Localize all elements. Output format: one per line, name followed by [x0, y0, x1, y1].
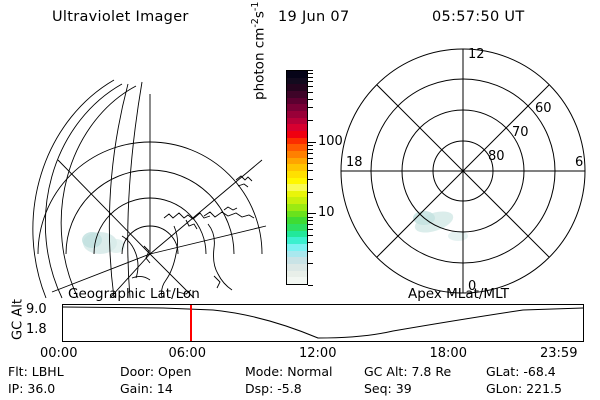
colorbar-tick-minor — [308, 92, 313, 93]
mlt-label-12: 12 — [468, 47, 485, 62]
time-tick-label: 00:00 — [40, 346, 77, 361]
colorbar-tick-minor — [308, 192, 313, 193]
colorbar-tick-minor — [308, 120, 313, 121]
geographic-image-panel — [18, 40, 266, 298]
colorbar-tick-minor — [308, 99, 313, 100]
colorbar-segment — [287, 211, 307, 218]
status-field: IP: 36.0 — [8, 381, 55, 396]
colorbar-segment — [287, 164, 307, 171]
colorbar-segment — [287, 191, 307, 198]
colorbar-segment — [287, 91, 307, 98]
colorbar-tick-minor — [308, 149, 313, 150]
colorbar-segment — [287, 98, 307, 105]
colorbar-label-main: photon cm — [252, 28, 268, 100]
instrument-title: Ultraviolet Imager — [52, 9, 189, 25]
geographic-grid — [33, 80, 266, 298]
colorbar-tick-minor — [308, 263, 313, 264]
colorbar-segment — [287, 124, 307, 131]
colorbar-segment — [287, 131, 307, 138]
colorbar-segment — [287, 257, 307, 264]
coastline-outlines — [122, 176, 254, 298]
status-row-2: IP: 36.0Gain: 14Dsp: -5.8Seq: 39GLon: 22… — [0, 381, 600, 398]
altitude-axis-label: GC Alt — [11, 290, 26, 350]
observation-date: 19 Jun 07 — [278, 9, 349, 25]
colorbar-gradient — [286, 70, 308, 285]
colorbar-segment — [287, 271, 307, 278]
colorbar-tick-minor — [308, 251, 313, 252]
aurora-emission-apex — [412, 207, 468, 241]
colorbar-tick-minor — [308, 81, 313, 82]
header-bar: Ultraviolet Imager 19 Jun 07 05:57:50 UT — [0, 6, 600, 32]
colorbar-segment — [287, 138, 307, 145]
colorbar-segment — [287, 111, 307, 118]
colorbar-tick-minor — [308, 242, 313, 243]
status-field: Flt: LBHL — [8, 364, 64, 379]
apex-panel-caption: Apex MLat/MLT — [408, 286, 509, 302]
colorbar-label-exp1: -2 — [250, 18, 261, 27]
altitude-plot-box — [62, 304, 584, 342]
mlat-label-60: 60 — [535, 101, 552, 116]
colorbar-tick-minor — [308, 70, 313, 71]
status-field: GLon: 221.5 — [486, 381, 562, 396]
colorbar-axis-label: photon cm-2s-1 — [250, 0, 270, 100]
status-field: Door: Open — [120, 364, 191, 379]
colorbar — [286, 70, 310, 285]
colorbar-segment — [287, 151, 307, 158]
colorbar-segment — [287, 71, 307, 78]
colorbar-segment — [287, 244, 307, 251]
status-row-1: Flt: LBHLDoor: OpenMode: NormalGC Alt: 7… — [0, 364, 600, 381]
colorbar-ticks: 10100 — [308, 70, 316, 285]
colorbar-tick-minor — [308, 229, 313, 230]
status-field: Gain: 14 — [120, 381, 173, 396]
colorbar-tick-minor — [308, 224, 313, 225]
observation-time: 05:57:50 UT — [432, 9, 525, 25]
colorbar-tick-minor — [308, 73, 313, 74]
colorbar-tick-minor — [308, 285, 313, 286]
altitude-tick-high: 9.0 — [26, 302, 47, 317]
aurora-emission-geographic — [82, 232, 125, 254]
time-axis: 00:0006:0012:0018:0023:59 — [0, 346, 600, 364]
colorbar-segment — [287, 78, 307, 85]
colorbar-tick-minor — [308, 86, 313, 87]
geographic-projection — [18, 40, 266, 298]
colorbar-tick-minor — [308, 170, 313, 171]
status-field: GC Alt: 7.8 Re — [364, 364, 451, 379]
time-tick-label: 23:59 — [540, 346, 577, 361]
colorbar-segment — [287, 277, 307, 284]
colorbar-segment — [287, 224, 307, 231]
status-field: Mode: Normal — [245, 364, 332, 379]
altitude-tick-low: 1.8 — [26, 322, 47, 337]
colorbar-segment — [287, 237, 307, 244]
colorbar-segment — [287, 217, 307, 224]
colorbar-segment — [287, 144, 307, 151]
current-time-marker — [190, 305, 192, 341]
colorbar-tick-minor — [308, 217, 313, 218]
time-tick-label: 06:00 — [169, 346, 206, 361]
colorbar-tick-minor — [308, 145, 313, 146]
colorbar-segment — [287, 251, 307, 258]
colorbar-segment — [287, 104, 307, 111]
mlat-label-70: 70 — [512, 125, 529, 140]
colorbar-label-exp2: -1 — [250, 2, 261, 11]
status-footer: Flt: LBHLDoor: OpenMode: NormalGC Alt: 7… — [0, 364, 600, 400]
colorbar-segment — [287, 158, 307, 165]
colorbar-segment — [287, 231, 307, 238]
apex-polar-projection: 12 18 6 0 60 70 80 — [332, 40, 594, 298]
colorbar-tick-minor — [308, 220, 313, 221]
colorbar-segment — [287, 197, 307, 204]
colorbar-tick-minor — [308, 158, 313, 159]
colorbar-tick-major — [308, 213, 316, 214]
colorbar-segment — [287, 204, 307, 211]
mlt-label-18: 18 — [346, 155, 363, 170]
time-tick-label: 12:00 — [299, 346, 336, 361]
colorbar-segment — [287, 178, 307, 185]
colorbar-tick-minor — [308, 163, 313, 164]
status-field: Dsp: -5.8 — [245, 381, 302, 396]
colorbar-tick-minor — [308, 153, 313, 154]
apex-polar-panel: 12 18 6 0 60 70 80 — [332, 40, 594, 298]
mlt-spokes — [341, 49, 585, 293]
colorbar-segment — [287, 118, 307, 125]
status-field: Seq: 39 — [364, 381, 412, 396]
colorbar-label-s: s — [252, 11, 268, 18]
colorbar-segment — [287, 171, 307, 178]
colorbar-segment — [287, 184, 307, 191]
altitude-strip: GC Alt 9.0 1.8 Geographic Lat/Lon Apex M… — [0, 288, 600, 360]
colorbar-tick-major — [308, 142, 316, 143]
mlt-label-6: 6 — [575, 155, 583, 170]
colorbar-tick-minor — [308, 235, 313, 236]
status-field: GLat: -68.4 — [486, 364, 556, 379]
colorbar-segment — [287, 84, 307, 91]
time-tick-label: 18:00 — [430, 346, 467, 361]
colorbar-tick-minor — [308, 77, 313, 78]
colorbar-tick-minor — [308, 107, 313, 108]
geographic-panel-caption: Geographic Lat/Lon — [68, 286, 200, 302]
altitude-curve — [63, 305, 583, 341]
mlat-label-80: 80 — [488, 149, 505, 164]
colorbar-segment — [287, 264, 307, 271]
colorbar-tick-minor — [308, 179, 313, 180]
